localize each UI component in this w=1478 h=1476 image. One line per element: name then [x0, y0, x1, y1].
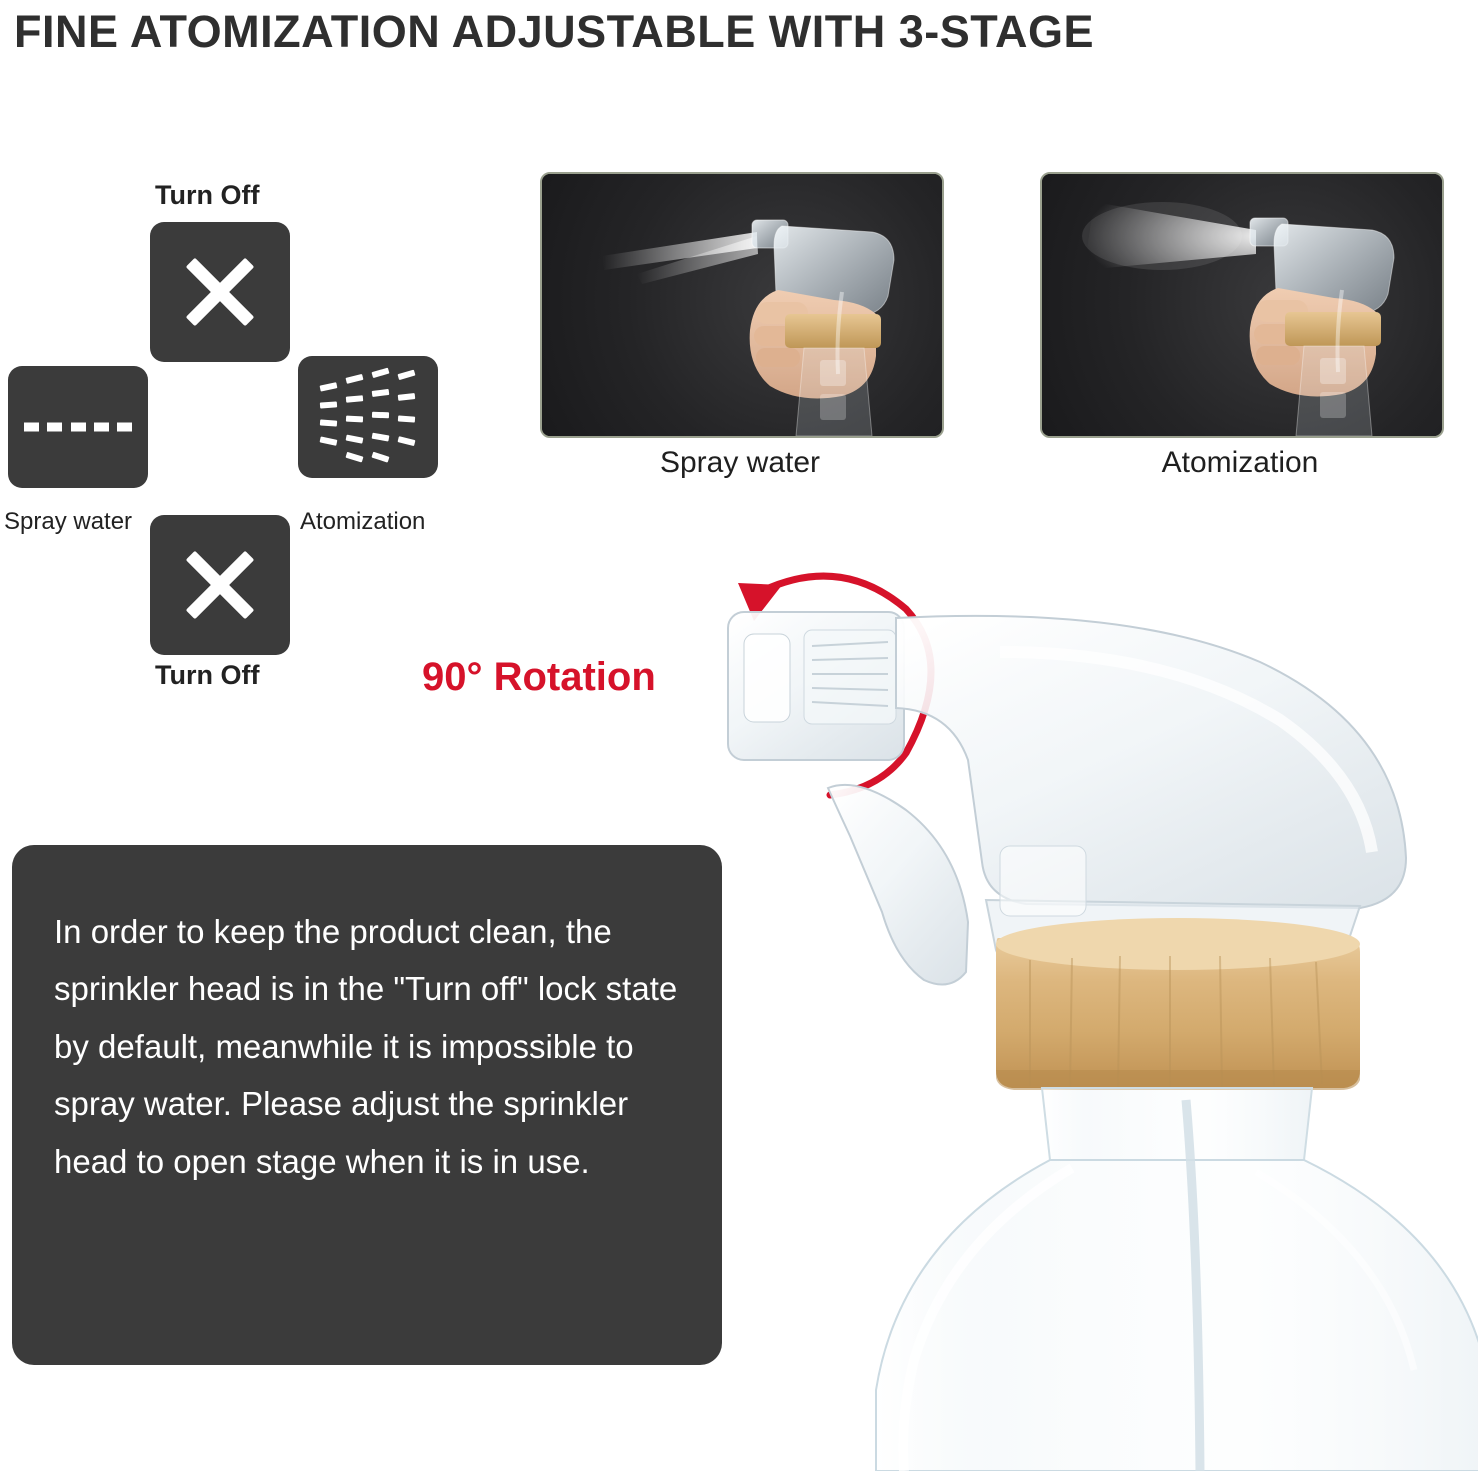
cluster-label-atomization: Atomization: [300, 508, 425, 536]
page-title: FINE ATOMIZATION ADJUSTABLE WITH 3-STAGE: [14, 6, 1464, 58]
trigger-spray-bottle: [700, 600, 1478, 1471]
wood-collar: [1285, 312, 1381, 346]
close-x-icon: [150, 222, 290, 362]
cluster-label-spray-water: Spray water: [4, 508, 132, 536]
atomization-illustration: [1042, 174, 1442, 436]
wood-collar: [785, 314, 881, 348]
glass-neck: [1042, 1088, 1312, 1160]
atomization-photo: [1040, 172, 1444, 438]
glass-bottle-body: [876, 1160, 1478, 1471]
cluster-label-turn-off-top: Turn Off: [155, 180, 259, 211]
trigger-lever: [828, 785, 968, 985]
atomization-fan-tile: [298, 356, 438, 478]
x-turn-off-bottom-tile: [150, 515, 290, 655]
atomization-caption: Atomization: [1040, 446, 1440, 480]
icon-cluster: Turn Off: [0, 160, 470, 700]
dashed-line-icon: [24, 423, 132, 432]
spray-water-caption: Spray water: [540, 446, 940, 480]
spray-fan-icon: [298, 356, 438, 478]
rotation-label: 90° Rotation: [422, 655, 656, 700]
nozzle-head: [728, 612, 904, 760]
spray-water-illustration: [542, 174, 942, 436]
note-box: In order to keep the product clean, the …: [12, 845, 722, 1365]
note-text: In order to keep the product clean, the …: [54, 903, 680, 1190]
close-x-icon: [150, 515, 290, 655]
cluster-label-turn-off-bottom: Turn Off: [155, 660, 259, 691]
bamboo-wood-collar: [996, 918, 1360, 1090]
x-turn-off-top-tile: [150, 222, 290, 362]
spray-water-photo: [540, 172, 944, 438]
spray-water-dashes-tile: [8, 366, 148, 488]
